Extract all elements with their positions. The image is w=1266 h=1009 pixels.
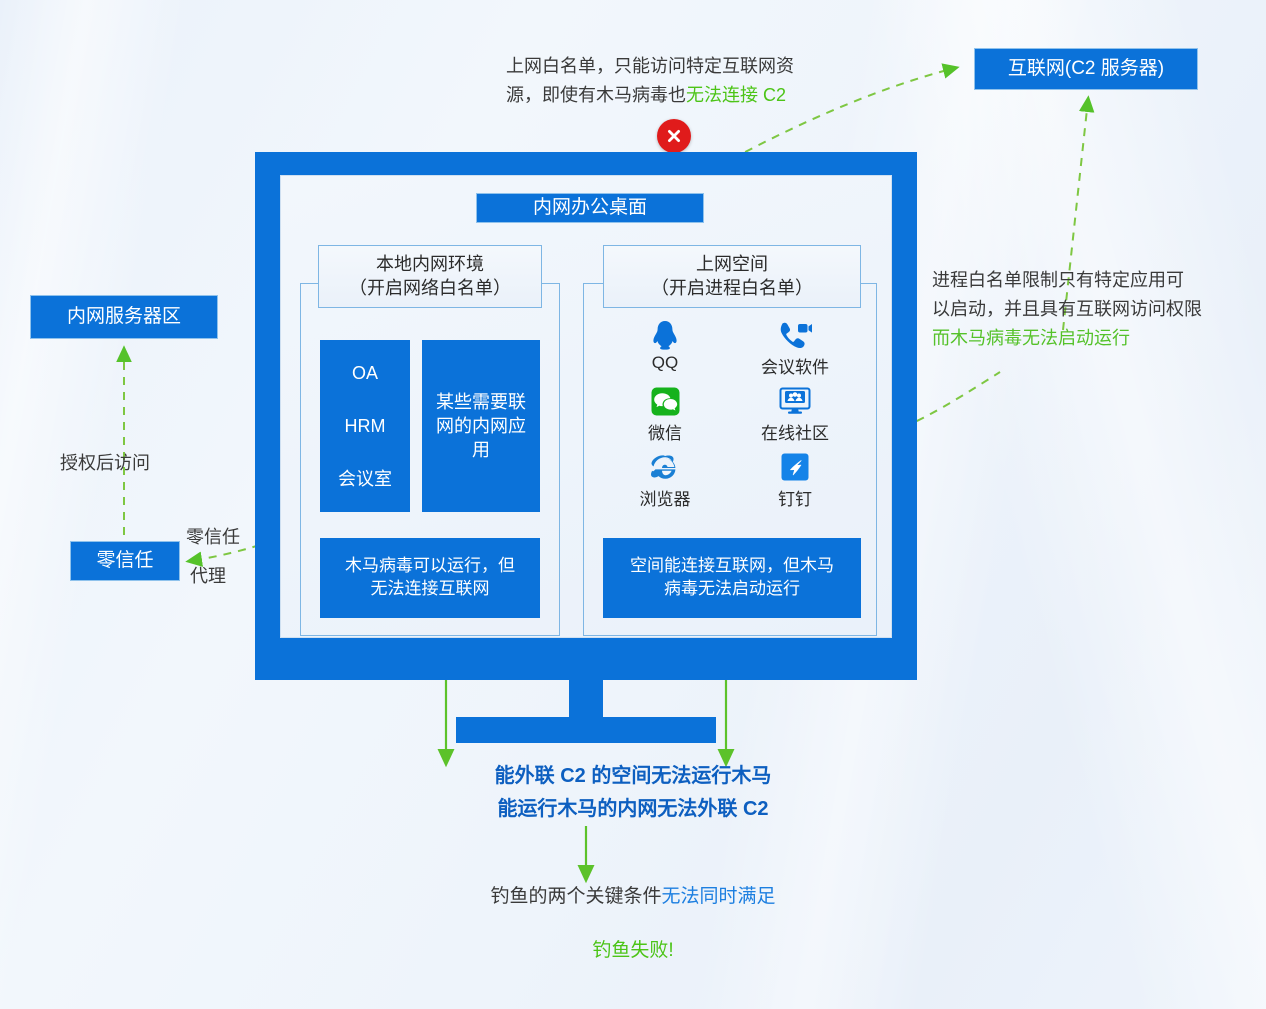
local-intranet-footer-note: 木马病毒可以运行，但 无法连接互联网 [320, 538, 540, 618]
top-note-line-2-plain: 源，即使有木马病毒也 [506, 85, 686, 105]
local-app-meeting-room: 会议室 [338, 467, 392, 491]
app-label-online-community: 在线社区 [761, 419, 829, 444]
local-footer-line-2: 无法连接互联网 [345, 578, 515, 601]
dingtalk-icon [781, 450, 809, 484]
app-label-meeting-software: 会议软件 [761, 353, 829, 378]
video-call-icon [777, 318, 813, 352]
top-note-line-2: 源，即使有木马病毒也无法连接 C2 [506, 81, 856, 110]
app-label-wechat: 微信 [648, 419, 682, 444]
top-note-line-1: 上网白名单，只能访问特定互联网资 [506, 52, 856, 81]
app-label-qq: QQ [652, 353, 678, 373]
conclusion-sub: 钓鱼的两个关键条件无法同时满足 [0, 881, 1266, 908]
top-whitelist-note: 上网白名单，只能访问特定互联网资 源，即使有木马病毒也无法连接 C2 [506, 52, 856, 110]
desktop-title-badge: 内网办公桌面 [476, 193, 704, 223]
red-x-icon [657, 119, 691, 153]
right-note-line-1: 进程白名单限制只有特定应用可 [932, 266, 1252, 295]
process-whitelist-note: 进程白名单限制只有特定应用可 以启动，并且具有互联网访问权限 而木马病毒无法启动… [932, 266, 1252, 352]
conclusion-line-2: 能运行木马的内网无法外联 C2 [0, 793, 1266, 826]
right-note-line-3: 而木马病毒无法启动运行 [932, 324, 1252, 353]
app-item-dingtalk[interactable]: 钉钉 [730, 450, 860, 510]
internet-space-app-grid: QQ 会议软件 微信 [600, 318, 860, 510]
conclusion-sub-plain: 钓鱼的两个关键条件 [490, 886, 661, 907]
authorized-access-label: 授权后访问 [60, 449, 150, 478]
conclusion-main: 能外联 C2 的空间无法运行木马 能运行木马的内网无法外联 C2 [0, 760, 1266, 826]
app-item-online-community[interactable]: 在线社区 [730, 384, 860, 444]
zero-trust-proxy-label-line-2: 代理 [190, 562, 226, 591]
panel-left-title-line-1: 本地内网环境 [376, 253, 484, 276]
monitor-base [456, 717, 716, 743]
app-item-meeting-software[interactable]: 会议软件 [730, 318, 860, 378]
app-item-wechat[interactable]: 微信 [600, 384, 730, 444]
internet-footer-line-1: 空间能连接互联网，但木马 [630, 555, 834, 578]
ie-browser-icon [650, 450, 680, 484]
qq-icon [651, 318, 679, 352]
top-note-line-2-green: 无法连接 C2 [686, 85, 786, 105]
zero-trust-proxy-label-line-1: 零信任 [186, 523, 240, 552]
networked-intranet-apps-box: 某些需要联网的内网应用 [422, 340, 540, 512]
conclusion-fail: 钓鱼失败! [0, 935, 1266, 962]
conclusion-line-1: 能外联 C2 的空间无法运行木马 [0, 760, 1266, 793]
panel-right-title-line-1: 上网空间 [696, 253, 768, 276]
local-app-hrm: HRM [345, 414, 386, 438]
panel-internet-space-title: 上网空间 （开启进程白名单） [603, 245, 861, 308]
intranet-server-zone-node[interactable]: 内网服务器区 [30, 295, 218, 339]
app-item-browser[interactable]: 浏览器 [600, 450, 730, 510]
app-label-browser: 浏览器 [640, 485, 691, 510]
internet-space-footer-note: 空间能连接互联网，但木马 病毒无法启动运行 [603, 538, 861, 618]
wechat-icon [651, 384, 680, 418]
internet-c2-node[interactable]: 互联网(C2 服务器) [974, 48, 1198, 90]
app-item-qq[interactable]: QQ [600, 318, 730, 378]
zero-trust-node[interactable]: 零信任 [70, 541, 180, 581]
online-community-icon [779, 384, 811, 418]
internet-footer-line-2: 病毒无法启动运行 [630, 578, 834, 601]
local-app-oa: OA [352, 361, 378, 385]
app-label-dingtalk: 钉钉 [778, 485, 812, 510]
conclusion-sub-highlight: 无法同时满足 [662, 886, 776, 907]
panel-right-title-line-2: （开启进程白名单） [651, 277, 813, 300]
panel-left-title-line-2: （开启网络白名单） [349, 277, 511, 300]
right-note-line-2: 以启动，并且具有互联网访问权限 [932, 295, 1252, 324]
panel-local-intranet-title: 本地内网环境 （开启网络白名单） [318, 245, 542, 308]
local-apps-box: OA HRM 会议室 [320, 340, 410, 512]
diagram-canvas: to internet C2 (passes behind red X) -->… [0, 0, 1266, 1009]
local-footer-line-1: 木马病毒可以运行，但 [345, 555, 515, 578]
